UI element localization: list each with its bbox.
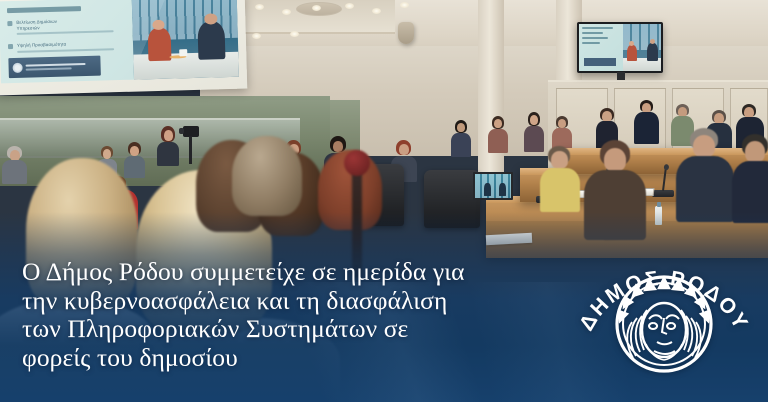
downlight-icon [252, 33, 261, 39]
bullet-dot-icon [8, 44, 13, 49]
wall-speaker [398, 22, 414, 44]
desk-monitor [473, 172, 513, 200]
slide-subtext-bar [17, 48, 114, 53]
headline-line-4: φορείς του δημοσίου [22, 344, 562, 373]
headline-line-3: των Πληροφοριακών Συστημάτων σε [22, 315, 562, 344]
tv-wall-mount [617, 72, 625, 80]
downlight-icon [345, 3, 354, 9]
downlight-icon [255, 4, 264, 10]
bullet-dot-icon [7, 21, 12, 26]
wall-monitor [577, 22, 663, 73]
slide-footer-badge [8, 56, 101, 79]
headline-line-2: την κυβερνοασφάλεια και τη διασφάλιση [22, 287, 562, 316]
microphone-windscreen [344, 150, 370, 176]
tripod [189, 136, 192, 164]
slide-title-bar [7, 6, 81, 13]
downlight-icon [372, 8, 381, 14]
downlight-icon [312, 5, 321, 11]
helios-head-emblem [617, 277, 711, 371]
downlight-icon [290, 31, 299, 37]
presentation-slide: Βελτίωση Δημόσιων Υπηρεσιών Υψηλή Προσβα… [0, 0, 239, 83]
downlight-icon [400, 2, 409, 8]
slide-bullet: Υψηλή Προσβασιμότητα [8, 40, 127, 53]
headline: Ο Δήμος Ρόδου συμμετείχε σε ημερίδα για … [22, 258, 562, 372]
emblem-icon [12, 63, 22, 73]
municipality-logo: ΔΗΜΟΣ ΡΟΔΟΥ [576, 232, 752, 390]
slide-bullet: Βελτίωση Δημόσιων Υπηρεσιών [7, 17, 127, 36]
slide-photo [132, 0, 239, 80]
projection-screen: Βελτίωση Δημόσιων Υπηρεσιών Υψηλή Προσβα… [0, 0, 247, 95]
downlight-icon [282, 9, 291, 15]
headline-line-1: Ο Δήμος Ρόδου συμμετείχε σε ημερίδα για [22, 258, 562, 287]
slide-subtext-bar [17, 30, 114, 35]
screenshot-canvas: Βελτίωση Δημόσιων Υπηρεσιών Υψηλή Προσβα… [0, 0, 768, 402]
